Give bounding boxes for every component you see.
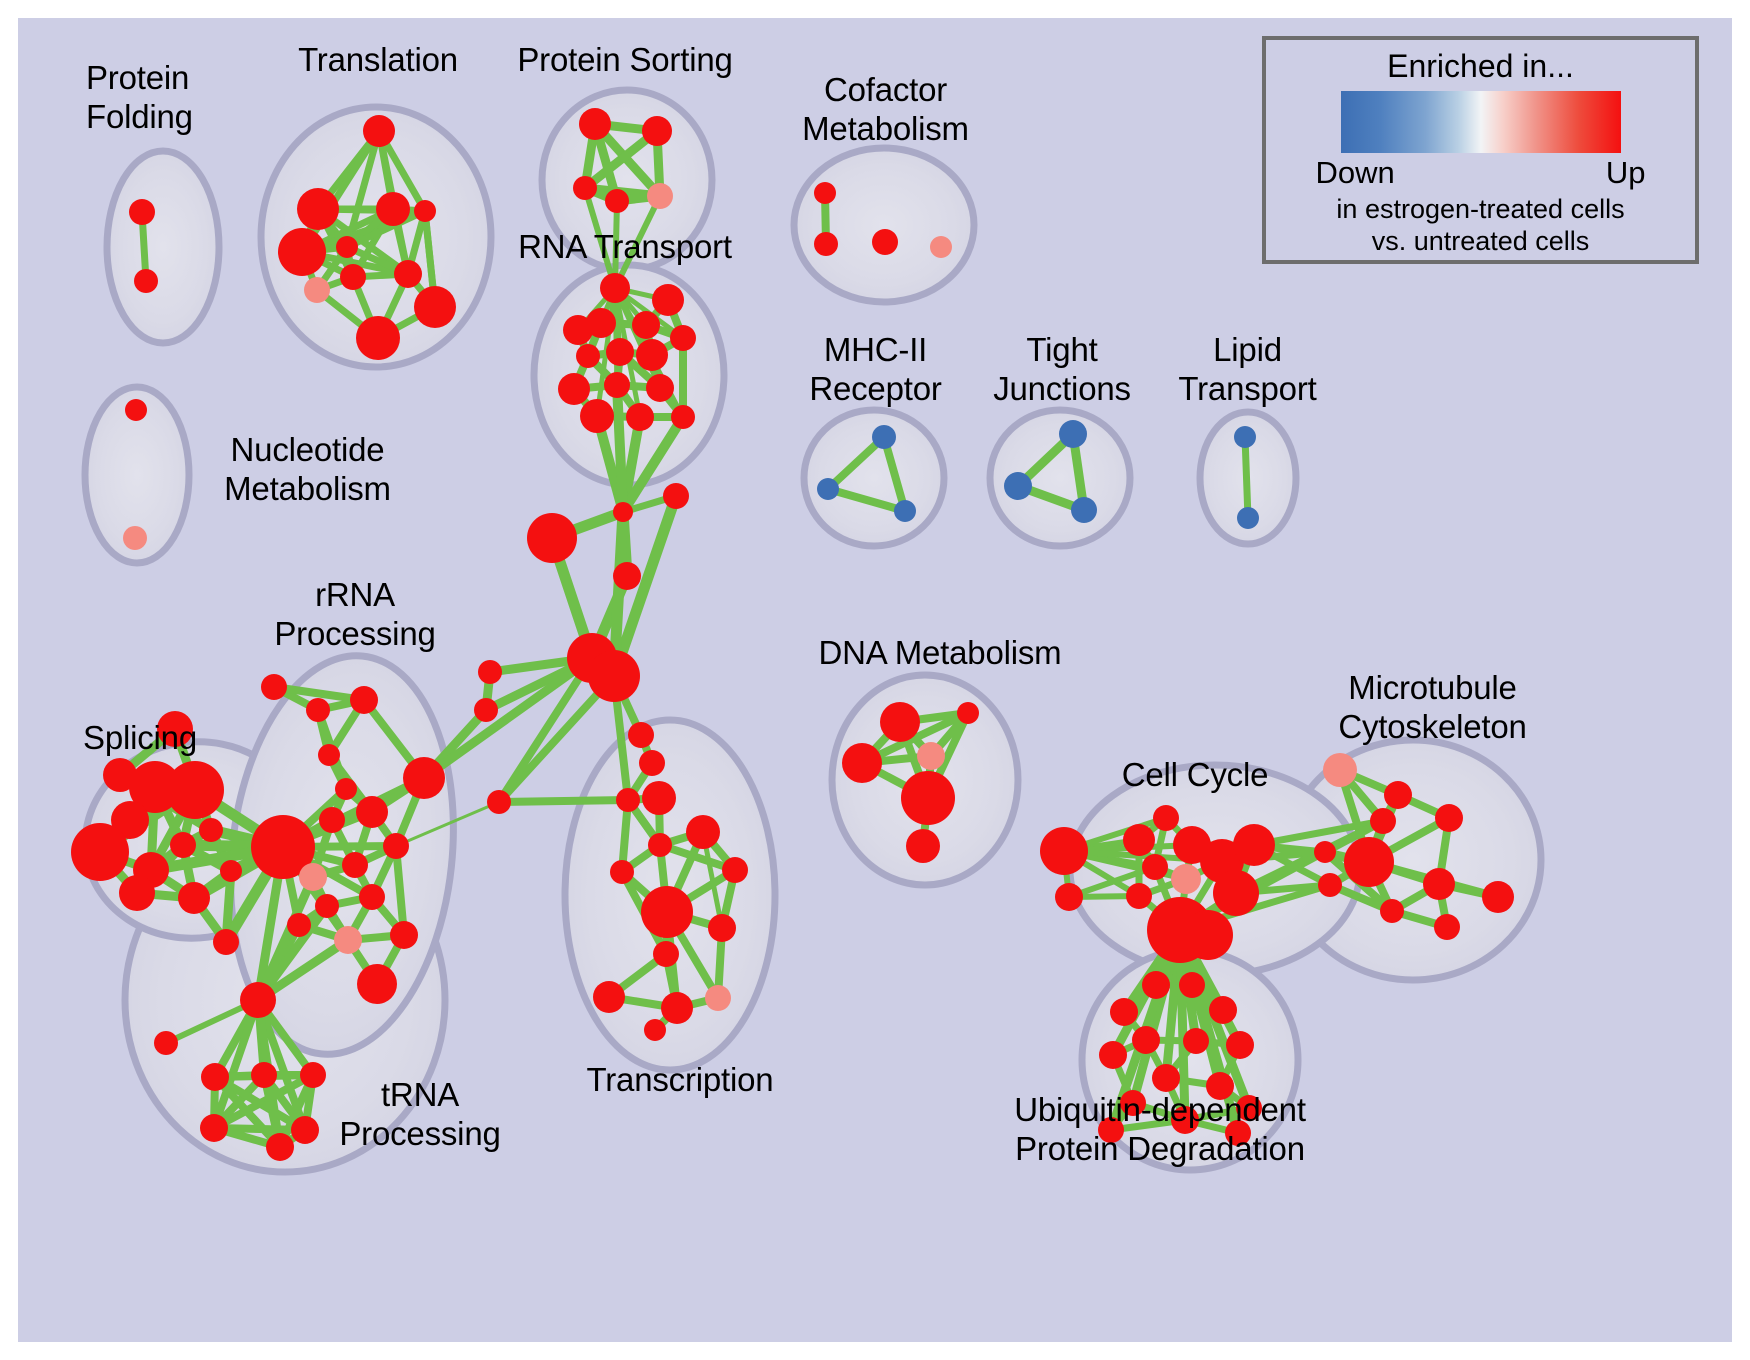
node [251,1062,277,1088]
node [125,399,147,421]
node [1482,881,1514,913]
node [1171,864,1201,894]
node [648,833,672,857]
node [278,228,326,276]
node [119,875,155,911]
node [653,941,679,967]
node [261,674,287,700]
node [1314,841,1336,863]
cluster-label-nucleotide-metabolism: Nucleotide Metabolism [200,430,415,508]
node [586,308,616,338]
node [636,339,668,371]
node [1234,426,1256,448]
node [1370,808,1396,834]
node [558,373,590,405]
node [170,832,196,858]
node [123,526,147,550]
node [1435,804,1463,832]
node [342,852,368,878]
node [527,513,577,563]
node [474,698,498,722]
node [1323,753,1357,787]
node [334,926,362,954]
legend-up-label: Up [1606,155,1646,191]
node [1179,972,1205,998]
node [1059,420,1087,448]
cluster-label-translation: Translation [278,40,478,79]
cluster-label-rna-transport: RNA Transport [510,227,740,266]
node [299,863,327,891]
node [708,914,736,942]
node [1233,824,1275,866]
cluster-label-trna-processing: tRNA Processing [320,1075,520,1153]
node [1434,914,1460,940]
node [1183,1028,1209,1054]
node [642,781,676,815]
node [390,921,418,949]
cluster-hull-cofactor-metabolism [794,148,974,302]
cluster-label-mhc-ii-receptor: MHC-II Receptor [778,330,973,408]
node [336,236,358,258]
node [376,192,410,226]
node [315,894,339,918]
cluster-label-tight-junctions: Tight Junctions [972,330,1152,408]
node [1126,883,1152,909]
node [201,1063,229,1091]
node [1213,870,1259,916]
node [1237,507,1259,529]
node [414,286,456,328]
legend-color-gradient [1341,91,1621,153]
node [872,425,896,449]
node [647,183,673,209]
node [639,750,665,776]
node [240,982,276,1018]
node [356,316,400,360]
node [579,108,611,140]
node [580,399,614,433]
node [613,562,641,590]
node [335,778,357,800]
node [220,860,242,882]
node [632,311,660,339]
node [616,788,640,812]
node [1423,868,1455,900]
node [814,182,836,204]
node [199,818,223,842]
node [576,344,600,368]
node [350,686,378,714]
node [340,264,366,290]
node [1142,971,1170,999]
node [646,374,674,402]
cluster-label-protein-sorting: Protein Sorting [505,40,745,79]
node [383,833,409,859]
node [628,722,654,748]
legend: Enriched in... Down Up in estrogen-treat… [1262,36,1699,264]
cluster-label-splicing: Splicing [60,718,220,757]
node [154,1031,178,1055]
node [1153,805,1179,831]
node [1318,873,1342,897]
node [1226,1031,1254,1059]
node [641,886,693,938]
node [930,236,952,258]
node [605,189,629,213]
cluster-label-lipid-transport: Lipid Transport [1160,330,1335,408]
node [1071,497,1097,523]
node [166,761,224,819]
node [403,757,445,799]
node [817,478,839,500]
node [1380,899,1404,923]
node [134,269,158,293]
node [291,1116,319,1144]
node [1055,883,1083,911]
node [880,702,920,742]
node [129,199,155,225]
node [588,650,640,702]
node [663,483,689,509]
node [394,260,422,288]
node [652,284,684,316]
node [670,325,696,351]
node [573,176,597,200]
node [71,823,129,881]
node [686,815,720,849]
cluster-label-protein-folding: Protein Folding [86,58,276,136]
node [213,929,239,955]
node [287,913,311,937]
legend-title: Enriched in... [1387,48,1574,85]
cluster-label-rrna-processing: rRNA Processing [255,575,455,653]
node [722,857,748,883]
node [297,188,339,230]
node [304,277,330,303]
node [894,500,916,522]
node [642,116,672,146]
node [359,884,385,910]
cluster-label-cell-cycle: Cell Cycle [1105,755,1285,794]
node [357,964,397,1004]
node [610,860,634,884]
cluster-hull-protein-folding [107,151,219,343]
node [705,985,731,1011]
node [306,698,330,722]
node [606,338,634,366]
node [917,742,945,770]
node [671,405,695,429]
node [1142,854,1168,880]
node [1004,472,1032,500]
cluster-label-dna-metabolism: DNA Metabolism [815,633,1065,672]
node [1344,837,1394,887]
node [363,115,395,147]
node [487,790,511,814]
legend-endpoints: Down Up [1316,155,1646,191]
cluster-label-cofactor-metabolism: Cofactor Metabolism [778,70,993,148]
node [604,372,630,398]
node [356,796,388,828]
legend-down-label: Down [1316,155,1395,191]
node [626,403,654,431]
node [266,1133,294,1161]
cluster-label-transcription: Transcription [570,1060,790,1099]
node [414,200,436,222]
node [178,882,210,914]
node [842,743,882,783]
node [1132,1026,1160,1054]
node [478,660,502,684]
node [814,232,838,256]
node [906,829,940,863]
figure-canvas: Protein Folding Translation Protein Sort… [0,0,1750,1360]
node [318,744,340,766]
node [1099,1041,1127,1069]
node [200,1114,228,1142]
node [1183,910,1233,960]
node [1209,996,1237,1024]
cluster-label-microtubule-cytoskeleton: Microtubule Cytoskeleton [1315,668,1550,746]
node [1040,827,1088,875]
node [613,502,633,522]
node [661,992,693,1024]
legend-subtitle: in estrogen-treated cells vs. untreated … [1336,193,1624,257]
node [1384,781,1412,809]
node [872,229,898,255]
node [600,273,630,303]
node [901,771,955,825]
node [1110,998,1138,1026]
node [319,807,345,833]
node [593,981,625,1013]
node [644,1019,666,1041]
node [1123,824,1155,856]
node [957,702,979,724]
node [1152,1064,1180,1092]
cluster-label-ubiquitin-protein-degradation: Ubiquitin-dependent Protein Degradation [985,1090,1335,1168]
